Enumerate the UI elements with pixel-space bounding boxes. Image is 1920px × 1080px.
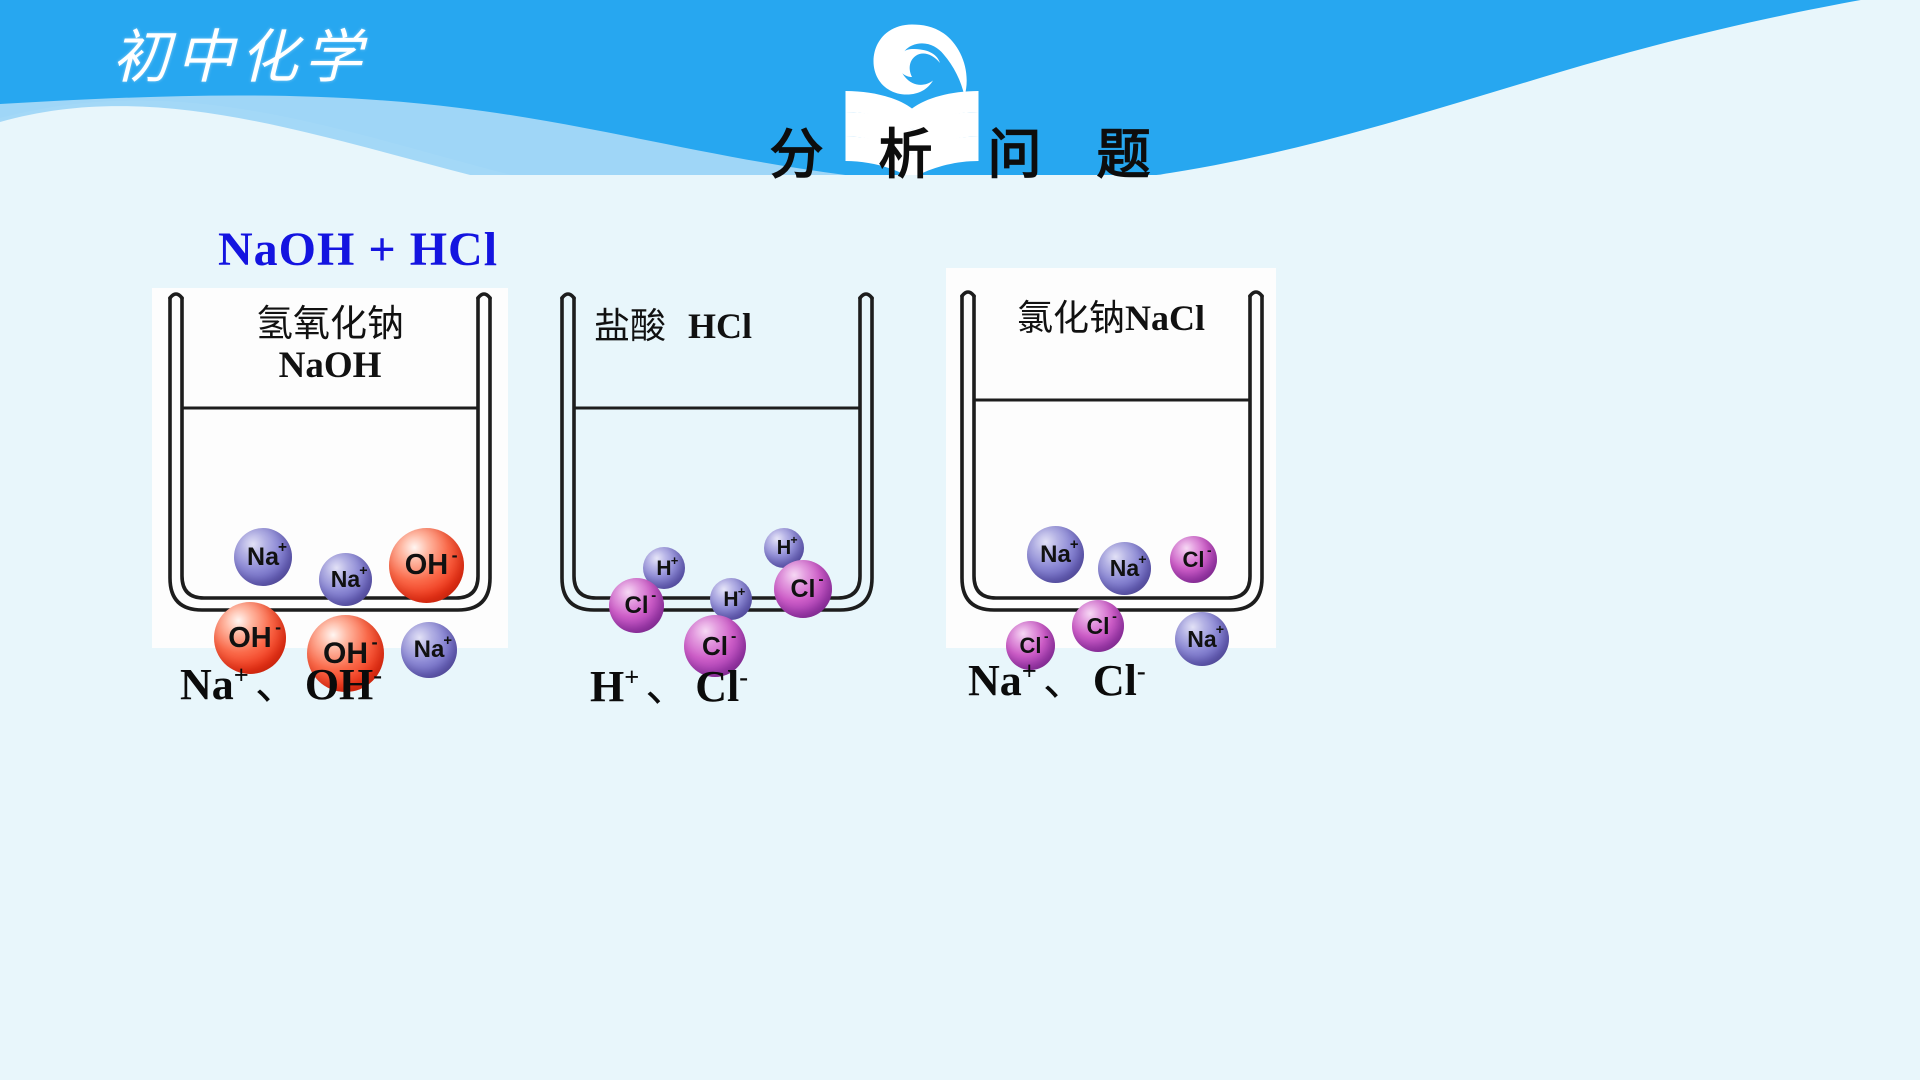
beaker-label-cn: 盐酸: [594, 306, 666, 346]
summary-anion: OH-: [305, 660, 382, 709]
page-title: 分 析 问 题: [0, 110, 1920, 189]
beaker-label-en: NaCl: [1125, 298, 1205, 338]
beaker-nacl: 氯化钠NaCl Na+Na+Cl-Cl-Cl-Na+: [946, 268, 1276, 648]
ion-label: H+: [656, 558, 671, 579]
beaker-hcl: 盐酸 HCl H+Cl-H+H+Cl-Cl-: [548, 288, 886, 648]
ion-charge: +: [790, 534, 797, 546]
ion-summary-hcl: H+、Cl-: [590, 650, 748, 714]
sodium-ion: Na+: [319, 553, 372, 606]
ion-label: Cl-: [791, 577, 816, 602]
beaker-label-hcl: 盐酸 HCl: [594, 306, 874, 346]
ion-label: Cl-: [1087, 615, 1110, 638]
beaker-label-en: NaOH: [180, 345, 480, 386]
summary-cation-charge: +: [234, 659, 249, 689]
chloride-ion: Cl-: [774, 560, 832, 618]
summary-anion-charge: -: [739, 661, 748, 691]
ion-summary-nacl: Na+、Cl-: [968, 644, 1146, 708]
ion-charge: +: [1070, 538, 1079, 553]
ion-charge: -: [818, 572, 823, 588]
beaker-label-naoh: 氢氧化钠 NaOH: [180, 304, 480, 387]
summary-cation: Na+: [968, 656, 1037, 705]
beaker-label-en: HCl: [688, 306, 752, 346]
beaker-label-cn: 氯化钠: [1017, 298, 1125, 338]
ion-container-hcl: H+Cl-H+H+Cl-Cl-: [574, 410, 860, 600]
ion-charge: +: [359, 564, 367, 578]
summary-separator: 、: [639, 662, 695, 711]
ion-label: Na+: [1110, 557, 1139, 580]
ion-label: H+: [777, 538, 791, 558]
summary-cation-charge: +: [1022, 655, 1037, 685]
ion-charge: -: [731, 628, 736, 644]
ion-container-nacl: Na+Na+Cl-Cl-Cl-Na+: [974, 408, 1250, 598]
ion-label: Na+: [247, 545, 279, 570]
summary-anion: Cl-: [695, 662, 748, 711]
ion-summary-naoh: Na+、OH-: [180, 648, 382, 712]
ion-charge: +: [738, 585, 746, 598]
ion-label: OH-: [405, 551, 449, 580]
ion-charge: -: [1207, 544, 1212, 558]
ion-charge: +: [671, 554, 679, 567]
chloride-ion: Cl-: [609, 578, 664, 633]
sodium-ion: Na+: [1175, 612, 1229, 666]
hydroxide-ion: OH-: [389, 528, 464, 603]
beaker-label-nacl: 氯化钠NaCl: [960, 298, 1262, 338]
ion-charge: +: [1216, 623, 1224, 637]
ion-charge: -: [1044, 630, 1049, 644]
ion-label: Cl-: [1183, 549, 1205, 571]
ion-charge: +: [278, 540, 287, 556]
summary-cation-charge: +: [624, 661, 639, 691]
summary-anion: Cl-: [1093, 656, 1146, 705]
ion-label: Na+: [1187, 628, 1216, 651]
summary-separator: 、: [1037, 656, 1093, 705]
ion-label: Cl-: [625, 594, 649, 618]
sodium-ion: Na+: [1098, 542, 1151, 595]
ion-charge: -: [651, 589, 656, 604]
sodium-ion: Na+: [401, 622, 457, 678]
summary-cation: Na+: [180, 660, 249, 709]
ion-container-naoh: Na+Na+OH-OH-OH-Na+: [182, 410, 478, 600]
chloride-ion: Cl-: [1170, 536, 1217, 583]
ion-label: Na+: [331, 568, 360, 591]
beaker-naoh: 氢氧化钠 NaOH Na+Na+OH-OH-OH-Na+: [152, 288, 508, 648]
sodium-ion: Na+: [234, 528, 292, 586]
ion-label: Na+: [414, 638, 445, 662]
ion-charge: +: [1138, 553, 1146, 567]
ion-charge: +: [443, 634, 452, 649]
ion-label: Na+: [1040, 543, 1071, 567]
beaker-label-cn: 氢氧化钠: [180, 304, 480, 345]
hydrogen-ion: H+: [710, 578, 752, 620]
summary-separator: 、: [249, 660, 305, 709]
ion-charge: -: [275, 618, 281, 636]
ion-charge: -: [1112, 610, 1117, 624]
summary-anion-charge: -: [373, 659, 382, 689]
ion-charge: -: [452, 546, 458, 564]
summary-anion-charge: -: [1137, 655, 1146, 685]
sodium-ion: Na+: [1027, 526, 1084, 583]
ion-label: H+: [723, 589, 738, 610]
summary-cation: H+: [590, 662, 639, 711]
